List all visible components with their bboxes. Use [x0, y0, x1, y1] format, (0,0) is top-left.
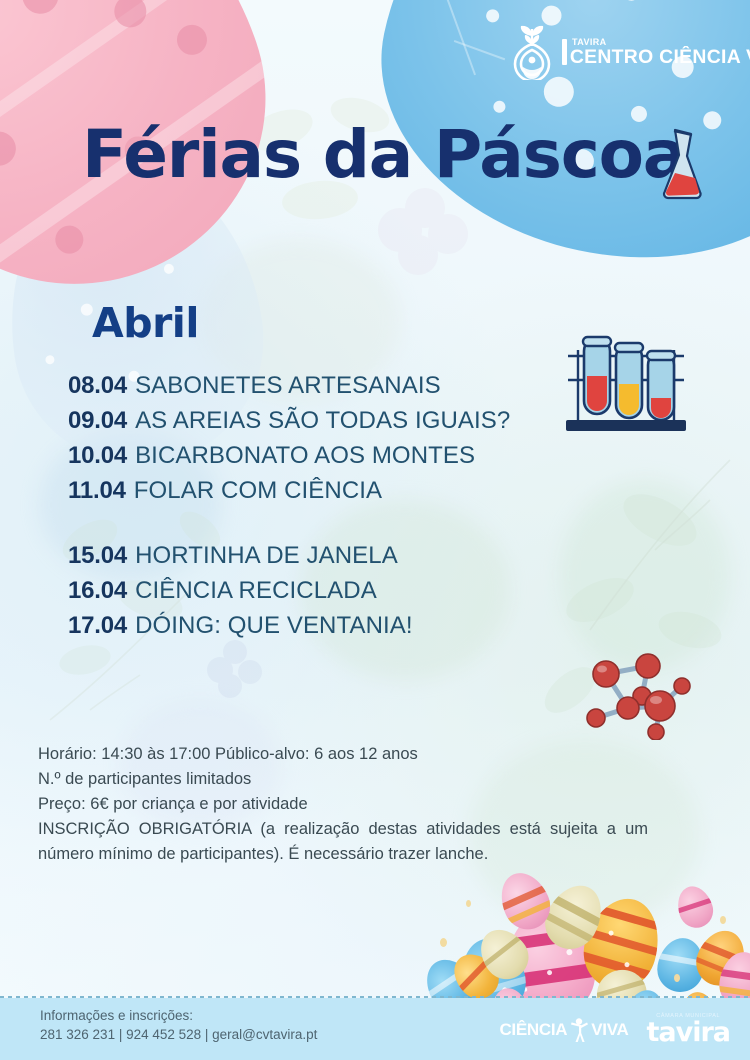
logo-tavira-label: TAVIRA	[572, 38, 750, 47]
info-participants-line: N.º de participantes limitados	[38, 767, 648, 792]
schedule-activity: DÓING: QUE VENTANIA!	[135, 608, 413, 643]
confetti-dot	[674, 974, 680, 982]
confetti-dot	[720, 916, 726, 924]
info-registration-paragraph: INSCRIÇÃO OBRIGATÓRIA (a realização dest…	[38, 817, 648, 867]
ciencia-viva-word1: CIÊNCIA	[499, 1020, 567, 1040]
schedule-row: 10.04 BICARBONATO AOS MONTES	[68, 438, 588, 473]
confetti-dot	[440, 938, 447, 947]
schedule-activity: BICARBONATO AOS MONTES	[135, 438, 475, 473]
tavira-word: tavira	[646, 1019, 730, 1046]
schedule-date: 15.04	[68, 538, 127, 573]
month-heading: Abril	[92, 303, 199, 344]
schedule-date: 10.04	[68, 438, 127, 473]
logo-divider-bar	[562, 39, 567, 65]
ciencia-viva-logo: CIÊNCIA VIVA	[499, 1017, 628, 1043]
erlenmeyer-flask-icon	[655, 126, 707, 202]
schedule-activity: FOLAR COM CIÊNCIA	[134, 473, 382, 508]
sprout-in-drop-icon	[508, 24, 556, 80]
schedule-group-2: 15.04 HORTINHA DE JANELA 16.04 CIÊNCIA R…	[68, 538, 588, 643]
running-figure-icon	[569, 1017, 589, 1043]
schedule-row: 08.04 SABONETES ARTESANAIS	[68, 368, 588, 403]
centro-ciencia-viva-logo: TAVIRA CENTRO CIÊNCIA VIVA	[508, 24, 750, 80]
schedule-row: 15.04 HORTINHA DE JANELA	[68, 538, 588, 573]
tavira-logo: CÂMARA MUNICIPAL tavira	[646, 1014, 730, 1046]
schedule-date: 08.04	[68, 368, 127, 403]
schedule-date: 09.04	[68, 403, 127, 438]
ciencia-viva-word2: VIVA	[591, 1020, 628, 1040]
page-title: Férias da Páscoa	[82, 122, 686, 188]
footer-contact: Informações e inscrições: 281 326 231 | …	[40, 1006, 317, 1044]
schedule-date: 17.04	[68, 608, 127, 643]
schedule-date: 11.04	[68, 473, 126, 508]
test-tube-rack-icon	[558, 332, 694, 438]
confetti-dot	[466, 900, 471, 907]
schedule-date: 16.04	[68, 573, 127, 608]
schedule-row: 17.04 DÓING: QUE VENTANIA!	[68, 608, 588, 643]
footer-contact-label: Informações e inscrições:	[40, 1006, 317, 1025]
poster-root: TAVIRA CENTRO CIÊNCIA VIVA Férias da Pás…	[0, 0, 750, 1060]
easter-egg	[672, 882, 717, 932]
schedule-activity: HORTINHA DE JANELA	[135, 538, 398, 573]
schedule-row: 09.04 AS AREIAS SÃO TODAS IGUAIS?	[68, 403, 588, 438]
info-block: Horário: 14:30 às 17:00 Público-alvo: 6 …	[38, 742, 648, 867]
footer-logos: CIÊNCIA VIVA CÂMARA MUNICIPAL tavira	[499, 1014, 730, 1046]
schedule-activity: AS AREIAS SÃO TODAS IGUAIS?	[135, 403, 510, 438]
schedule-row: 11.04 FOLAR COM CIÊNCIA	[68, 473, 588, 508]
schedule-group-1: 08.04 SABONETES ARTESANAIS 09.04 AS AREI…	[68, 368, 588, 508]
easter-eggs-cluster	[420, 880, 750, 1000]
tavira-sublabel: CÂMARA MUNICIPAL	[646, 1014, 730, 1020]
schedule-row: 16.04 CIÊNCIA RECICLADA	[68, 573, 588, 608]
schedule-activity: SABONETES ARTESANAIS	[135, 368, 441, 403]
molecule-icon	[572, 648, 698, 740]
logo-name: CENTRO CIÊNCIA VIVA	[570, 48, 750, 67]
footer: Informações e inscrições: 281 326 231 | …	[0, 998, 750, 1060]
schedule-list: 08.04 SABONETES ARTESANAIS 09.04 AS AREI…	[68, 368, 588, 643]
footer-contact-details[interactable]: 281 326 231 | 924 452 528 | geral@cvtavi…	[40, 1025, 317, 1044]
info-schedule-line: Horário: 14:30 às 17:00 Público-alvo: 6 …	[38, 742, 648, 767]
info-price-line: Preço: 6€ por criança e por atividade	[38, 792, 648, 817]
schedule-activity: CIÊNCIA RECICLADA	[135, 573, 377, 608]
